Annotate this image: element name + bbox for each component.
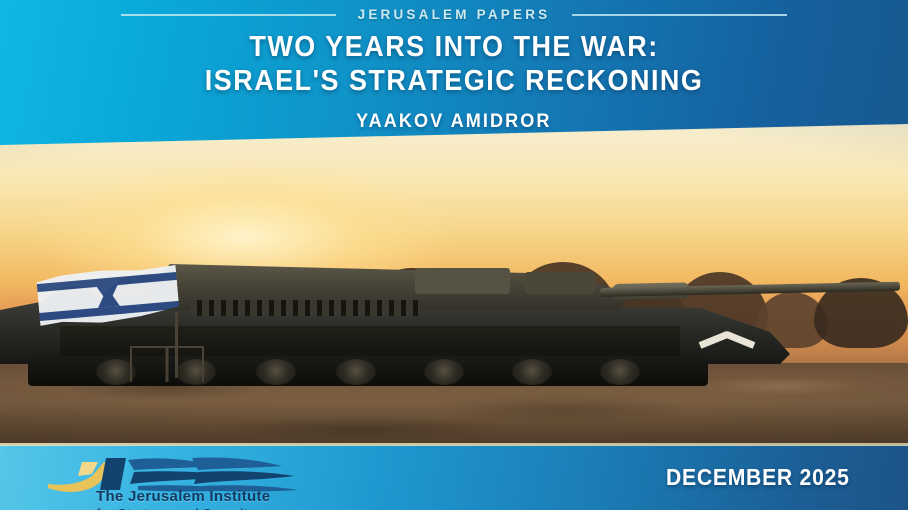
star-of-david-icon xyxy=(96,284,120,308)
road-wheel xyxy=(600,359,640,385)
publication-cover: JERUSALEM PAPERS TWO YEARS INTO THE WAR:… xyxy=(0,0,908,510)
turret-stowage-box xyxy=(415,268,510,294)
kicker-rule-right xyxy=(572,14,787,16)
jiss-logo-subtitle: The Jerusalem Institute xyxy=(96,488,270,505)
jiss-wordmark-icon xyxy=(42,454,302,492)
cover-photo xyxy=(0,120,908,445)
road-wheel xyxy=(424,359,464,385)
jiss-logo: The Jerusalem Institute for Strategy and… xyxy=(42,454,372,510)
turret-chain-skirt xyxy=(190,300,420,316)
kicker-rule-left xyxy=(121,14,336,16)
publication-date: DECEMBER 2025 xyxy=(666,464,850,491)
antenna-frame xyxy=(130,346,204,382)
series-kicker: JERUSALEM PAPERS xyxy=(0,7,908,22)
turret-stowage-box-2 xyxy=(525,272,595,294)
series-name: JERUSALEM PAPERS xyxy=(358,7,551,22)
flag-mast xyxy=(175,312,178,378)
merkava-tank xyxy=(0,260,908,405)
road-wheel xyxy=(336,359,376,385)
jiss-logo-subtitle-2: for Strategy and Security xyxy=(96,506,256,510)
road-wheel xyxy=(256,359,296,385)
page-title: TWO YEARS INTO THE WAR: ISRAEL'S STRATEG… xyxy=(205,31,704,99)
author-name: YAAKOV AMIDROR xyxy=(356,111,551,133)
road-wheel xyxy=(512,359,552,385)
cover-footer: The Jerusalem Institute for Strategy and… xyxy=(0,446,908,510)
title-line-2: ISRAEL'S STRATEGIC RECKONING xyxy=(205,65,704,99)
chevron-marking xyxy=(700,338,754,358)
header-content: JERUSALEM PAPERS TWO YEARS INTO THE WAR:… xyxy=(0,0,908,130)
title-line-1: TWO YEARS INTO THE WAR: xyxy=(205,31,704,65)
